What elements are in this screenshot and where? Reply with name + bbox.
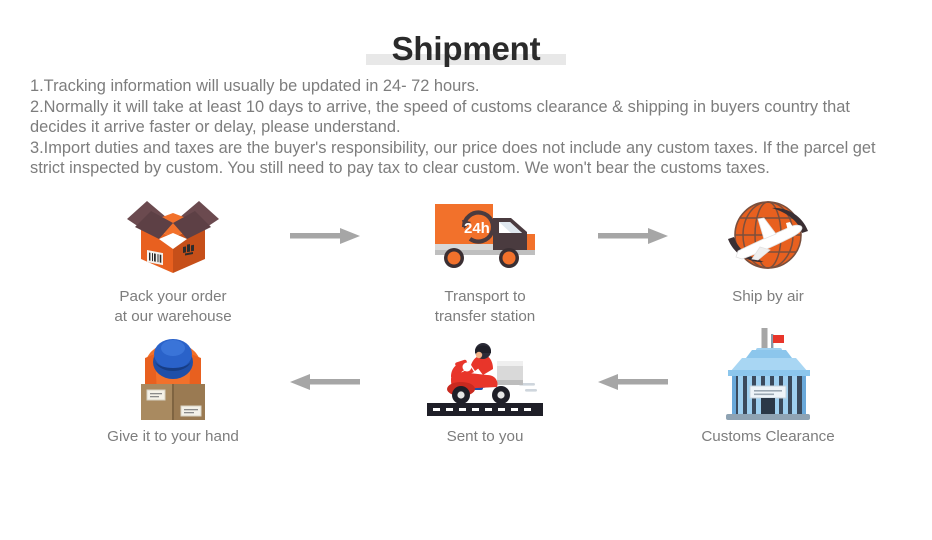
page-title-text: Shipment — [392, 30, 541, 67]
step-give-to-hand: Give it to your hand — [68, 330, 278, 447]
step-ship-by-air: Ship by air — [663, 190, 873, 307]
step-label-transport: Transport to transfer station — [380, 287, 590, 326]
customs-building-icon — [663, 330, 873, 422]
step-label-line1: Transport to — [444, 288, 525, 305]
flow-row-top: Pack your order at our warehouse — [0, 190, 932, 330]
open-box-icon — [68, 190, 278, 282]
step-sent-to-you: Sent to you — [380, 330, 590, 447]
shipment-flow: Pack your order at our warehouse — [0, 190, 932, 475]
courier-carrying-box-icon — [68, 330, 278, 422]
page-title: Shipment — [0, 28, 932, 69]
arrow-transport-to-air — [598, 226, 668, 246]
step-customs-clearance: Customs Clearance — [663, 330, 873, 447]
step-label-line1: Pack your order — [119, 288, 226, 305]
step-label-line2: at our warehouse — [68, 307, 278, 327]
step-label-customs-clearance: Customs Clearance — [663, 427, 873, 447]
arrow-scooter-to-hand — [290, 372, 360, 392]
step-label-give-to-hand: Give it to your hand — [68, 427, 278, 447]
note-1: 1.Tracking information will usually be u… — [30, 76, 908, 97]
shipping-notes: 1.Tracking information will usually be u… — [30, 76, 908, 179]
delivery-scooter-icon — [380, 330, 590, 422]
step-label-sent-to-you: Sent to you — [380, 427, 590, 447]
step-pack-order: Pack your order at our warehouse — [68, 190, 278, 326]
globe-airplane-icon — [663, 190, 873, 282]
note-2: 2.Normally it will take at least 10 days… — [30, 97, 908, 138]
step-label-ship-by-air: Ship by air — [663, 287, 873, 307]
step-transport: 24h Transport to transfer station — [380, 190, 590, 326]
arrow-pack-to-transport — [290, 226, 360, 246]
delivery-truck-icon: 24h — [380, 190, 590, 282]
step-label-line1: Customs Clearance — [701, 428, 834, 445]
note-3: 3.Import duties and taxes are the buyer'… — [30, 138, 908, 179]
truck-badge-text: 24h — [464, 220, 490, 237]
step-label-line1: Give it to your hand — [107, 428, 239, 445]
shipment-infographic: Shipment 1.Tracking information will usu… — [0, 0, 932, 540]
arrow-customs-to-scooter — [598, 372, 668, 392]
step-label-line1: Sent to you — [447, 428, 524, 445]
step-label-line1: Ship by air — [732, 288, 804, 305]
flow-row-bottom: Give it to your hand — [0, 330, 932, 475]
step-label-pack-order: Pack your order at our warehouse — [68, 287, 278, 326]
step-label-line2: transfer station — [380, 307, 590, 327]
